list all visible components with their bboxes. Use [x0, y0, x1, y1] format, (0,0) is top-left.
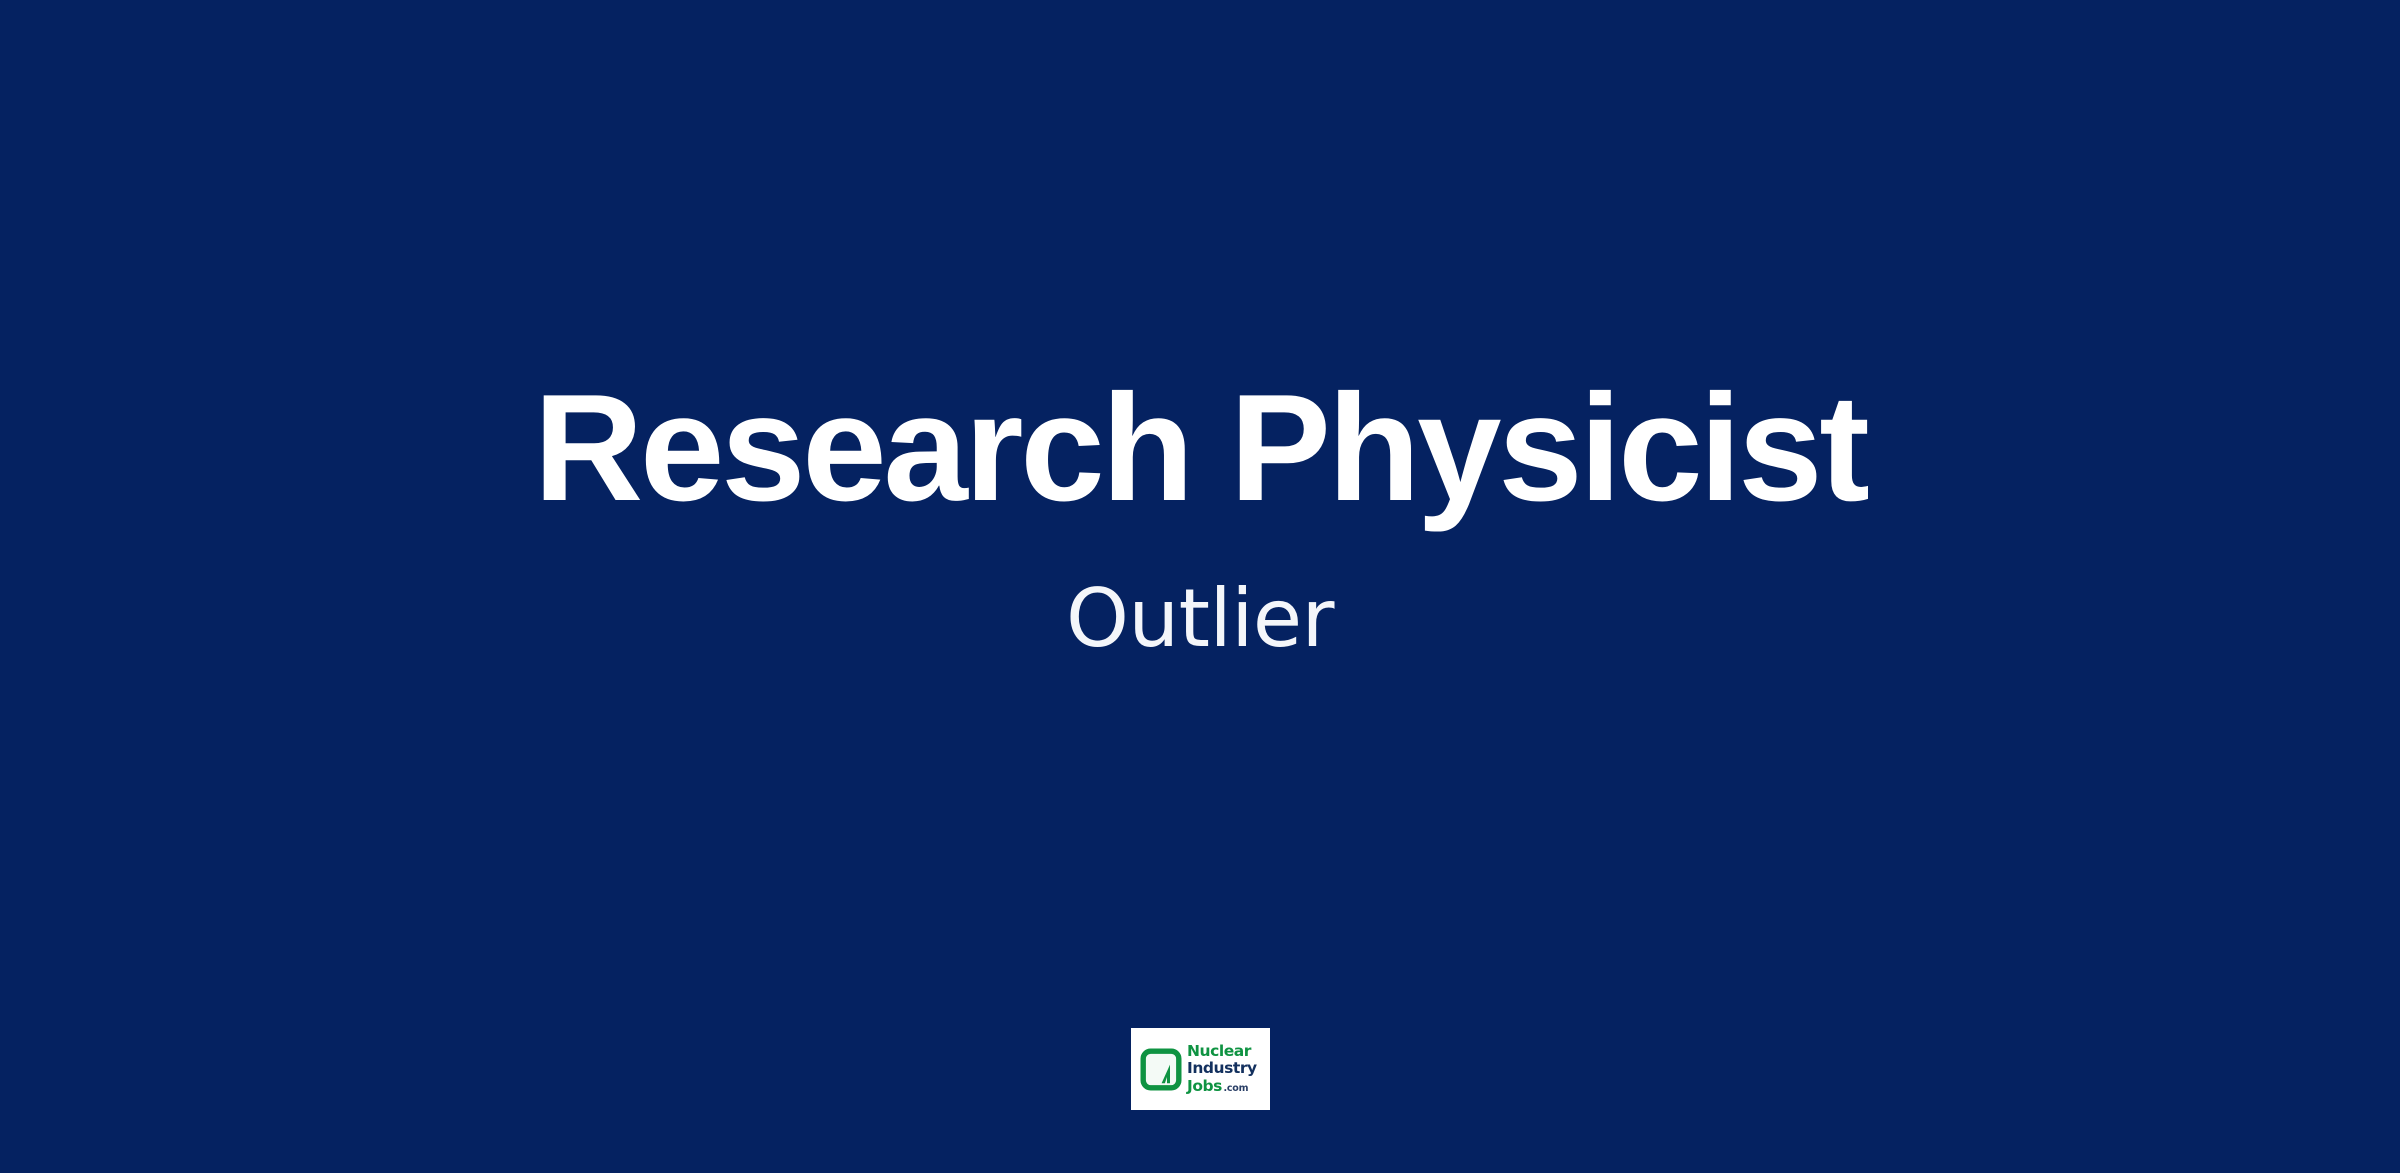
page-title: Research Physicist [120, 372, 2280, 524]
company-name: Outlier [120, 579, 2280, 659]
nuclear-industry-jobs-icon [1140, 1046, 1182, 1093]
logo-word-jobs: Jobs [1187, 1079, 1222, 1095]
logo-word-industry: Industry [1187, 1061, 1257, 1077]
hero-section: Research Physicist Outlier [0, 0, 2400, 1173]
logo-word-dotcom: .com [1223, 1084, 1248, 1094]
logo-badge[interactable]: Nuclear Industry Jobs .com [1131, 1028, 1270, 1110]
logo-word-nuclear: Nuclear [1187, 1044, 1251, 1060]
logo-wordmark: Nuclear Industry Jobs .com [1182, 1044, 1264, 1095]
logo-word-jobs-line: Jobs .com [1187, 1079, 1248, 1095]
job-posting-card: Research Physicist Outlier Nuclear Indus… [0, 0, 2400, 1173]
